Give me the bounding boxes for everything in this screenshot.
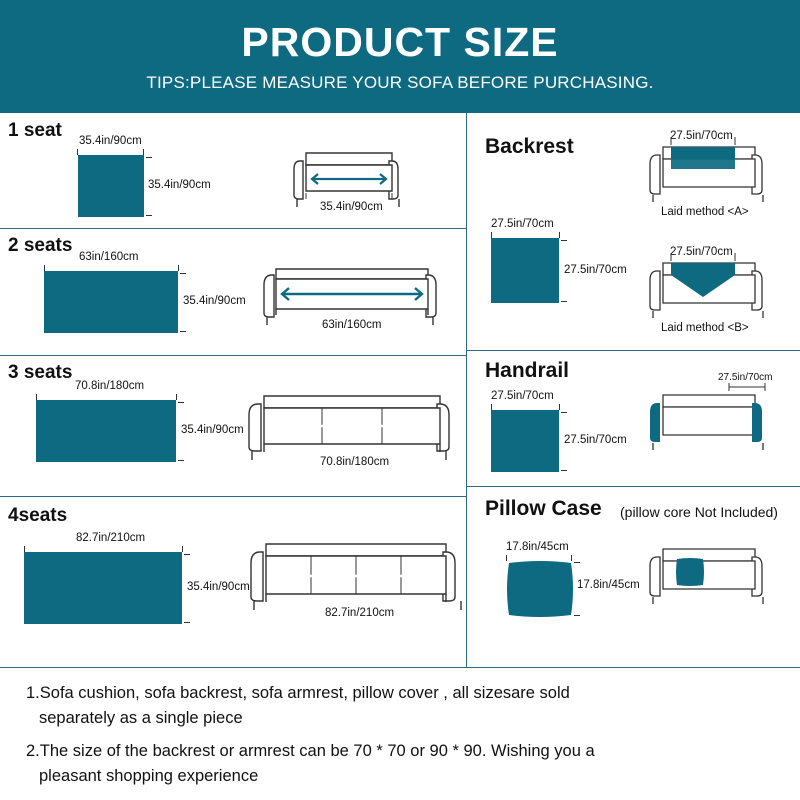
sofa-illustration-2-seats	[0, 229, 466, 356]
footer-note-2-line-1: 2.The size of the backrest or armrest ca…	[26, 739, 774, 764]
label-method-b: Laid method <B>	[661, 322, 749, 334]
page-title: PRODUCT SIZE	[241, 18, 558, 66]
label-1seat-sofa: 35.4in/90cm	[320, 201, 383, 213]
section-backrest: Backrest 27.5in/70cm 27.5in/70cm 27.5in/…	[467, 113, 800, 351]
header-banner: PRODUCT SIZE TIPS:PLEASE MEASURE YOUR SO…	[0, 0, 800, 113]
left-column: 1 seat 35.4in/90cm 35.4in/90cm	[0, 113, 466, 667]
page-subtitle: TIPS:PLEASE MEASURE YOUR SOFA BEFORE PUR…	[146, 70, 653, 96]
footer-notes: 1.Sofa cushion, sofa backrest, sofa armr…	[0, 667, 800, 800]
footer-note-1-line-2: separately as a single piece	[26, 706, 774, 731]
section-2-seats: 2 seats 63in/160cm 35.4in/90cm	[0, 229, 466, 356]
label-handrail-sofa: 27.5in/70cm	[718, 372, 772, 383]
sofa-illustration-1-seat	[0, 113, 466, 229]
section-handrail: Handrail 27.5in/70cm 27.5in/70cm	[467, 351, 800, 487]
section-4-seats: 4seats 82.7in/210cm 35.4in/90cm	[0, 497, 466, 667]
footer-note-1-line-1: 1.Sofa cushion, sofa backrest, sofa armr…	[26, 681, 774, 706]
section-pillow-case: Pillow Case (pillow core Not Included) 1…	[467, 487, 800, 667]
sofa-illustration-backrest-b	[467, 113, 800, 351]
sofa-illustration-4-seats	[0, 497, 466, 667]
product-size-infographic: PRODUCT SIZE TIPS:PLEASE MEASURE YOUR SO…	[0, 0, 800, 800]
label-3seats-sofa: 70.8in/180cm	[320, 456, 389, 468]
sofa-illustration-pillow	[467, 487, 800, 667]
footer-note-2-line-2: pleasant shopping experience	[26, 764, 774, 789]
size-chart: 1 seat 35.4in/90cm 35.4in/90cm	[0, 113, 800, 668]
section-3-seats: 3 seats 70.8in/180cm 35.4in/90cm	[0, 356, 466, 497]
section-1-seat: 1 seat 35.4in/90cm 35.4in/90cm	[0, 113, 466, 229]
sofa-illustration-3-seats	[0, 356, 466, 497]
label-2seats-sofa: 63in/160cm	[322, 319, 381, 331]
label-4seats-sofa: 82.7in/210cm	[325, 607, 394, 619]
right-column: Backrest 27.5in/70cm 27.5in/70cm 27.5in/…	[466, 113, 800, 667]
